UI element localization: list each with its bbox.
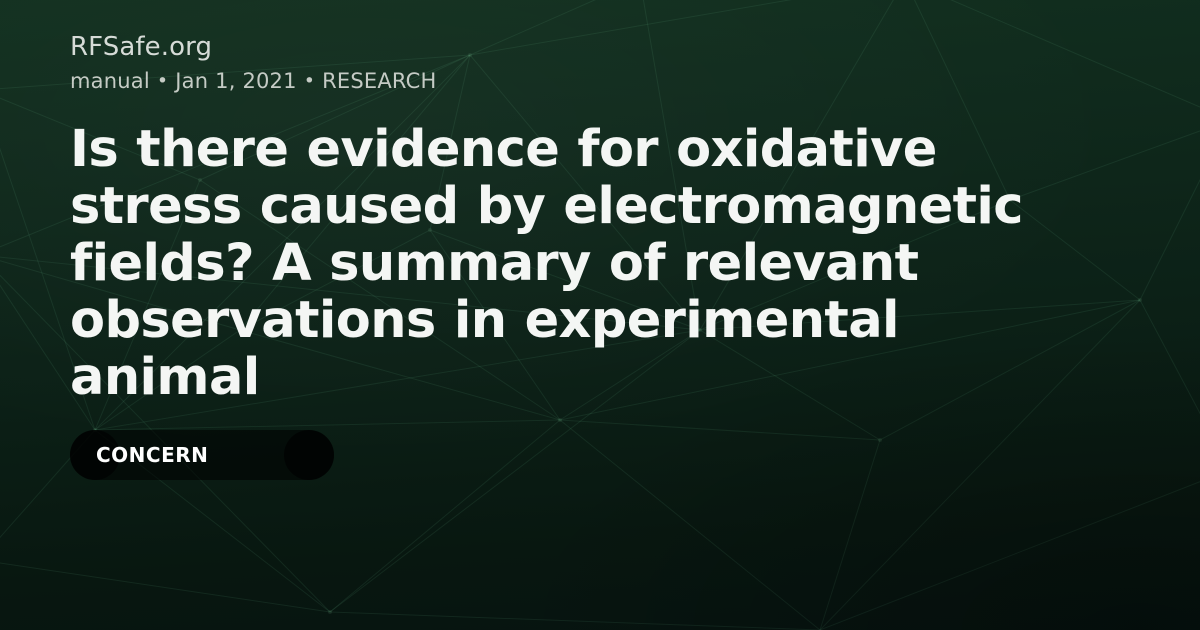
- meta-separator-1: •: [150, 70, 175, 92]
- status-badge: CONCERN: [70, 430, 334, 480]
- page-title: Is there evidence for oxidative stress c…: [70, 121, 1105, 406]
- site-name: RFSafe.org: [70, 32, 1130, 62]
- badge-container: CONCERN: [70, 430, 1130, 480]
- meta-separator-2: •: [297, 70, 322, 92]
- meta-line: manual•Jan 1, 2021•RESEARCH: [70, 68, 1130, 95]
- meta-date: Jan 1, 2021: [175, 69, 296, 93]
- og-card: RFSafe.org manual•Jan 1, 2021•RESEARCH I…: [0, 0, 1200, 630]
- meta-source: manual: [70, 69, 150, 93]
- status-badge-label: CONCERN: [96, 443, 208, 467]
- card-content: RFSafe.org manual•Jan 1, 2021•RESEARCH I…: [70, 32, 1130, 480]
- meta-category: RESEARCH: [322, 69, 436, 93]
